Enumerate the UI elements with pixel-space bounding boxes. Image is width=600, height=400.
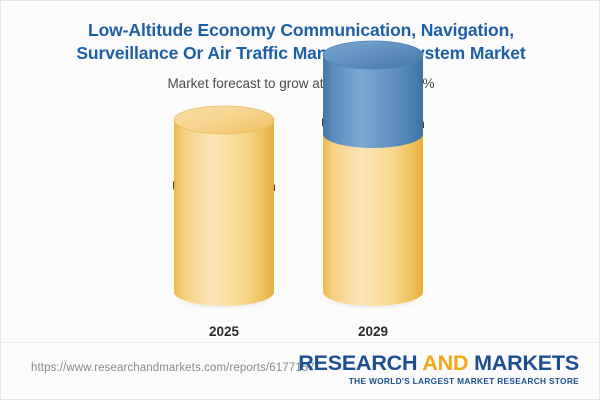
report-url[interactable]: https://www.researchandmarkets.com/repor…	[31, 362, 315, 374]
logo-word-research: RESEARCH	[298, 351, 417, 375]
bar-group-2029: USD 6.29 Billion	[323, 109, 423, 341]
bar-category-label-2029: 2029	[358, 324, 388, 339]
logo-word-and: AND	[422, 351, 468, 375]
chart-plot-area: USD 3.56 Billion	[1, 109, 600, 341]
logo-word-markets: MARKETS	[474, 351, 579, 375]
bar-group-2025: USD 3.56 Billion	[174, 109, 274, 341]
chart-header: Low-Altitude Economy Communication, Navi…	[1, 1, 600, 92]
research-and-markets-logo[interactable]: RESEARCH AND MARKETS THE WORLD'S LARGEST…	[298, 351, 579, 386]
bar-category-label-2025: 2025	[209, 324, 239, 339]
logo-wordmark: RESEARCH AND MARKETS	[298, 351, 579, 375]
chart-subtitle: Market forecast to grow at a CAGR of 15.…	[1, 65, 600, 92]
cylinder-2025	[174, 106, 274, 306]
logo-tagline: THE WORLD'S LARGEST MARKET RESEARCH STOR…	[298, 376, 579, 386]
cylinder-2029	[323, 41, 423, 306]
footer: https://www.researchandmarkets.com/repor…	[1, 342, 600, 400]
market-forecast-chart-card: Low-Altitude Economy Communication, Navi…	[0, 0, 600, 400]
page-title: Low-Altitude Economy Communication, Navi…	[1, 1, 600, 65]
